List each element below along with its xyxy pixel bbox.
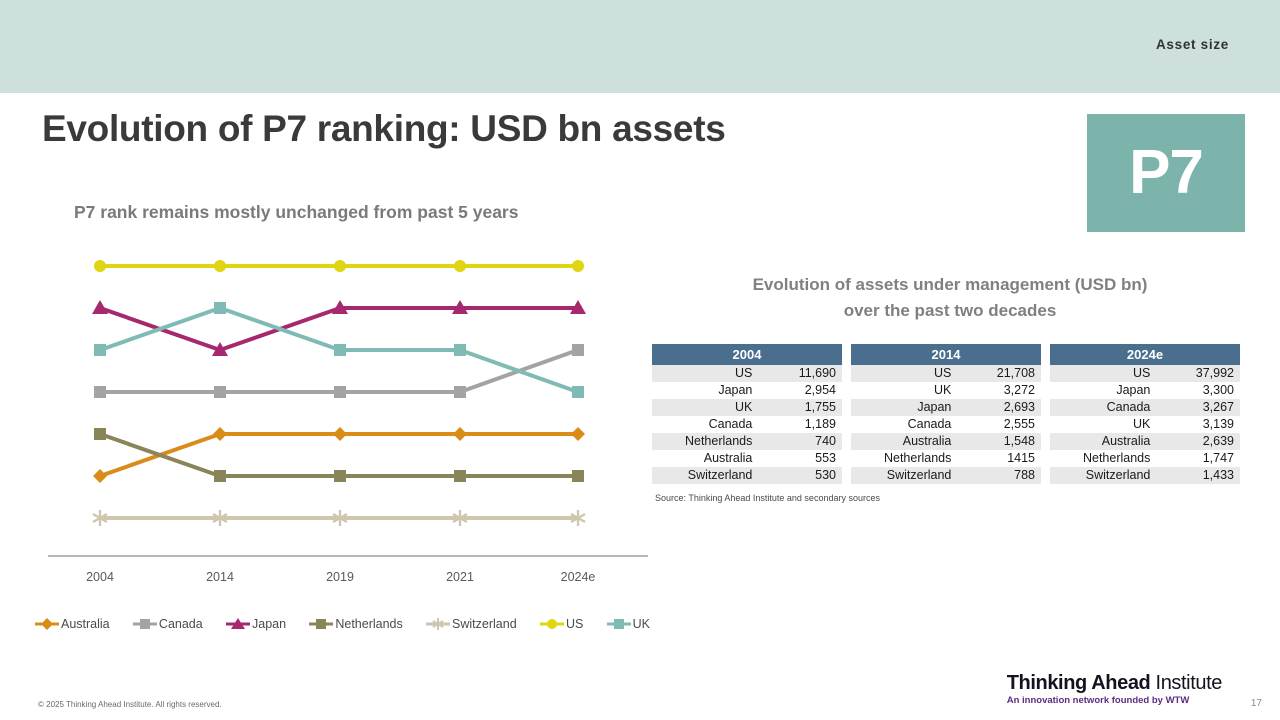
- legend-marker-australia: [34, 616, 60, 632]
- table-cell-country: Japan: [652, 382, 758, 399]
- legend-item-switzerland[interactable]: Switzerland: [425, 616, 517, 632]
- table-row: Canada2,555: [851, 416, 1041, 433]
- table-cell-country: UK: [1050, 416, 1156, 433]
- table-cell-value: 530: [758, 467, 842, 484]
- table-cell-value: 740: [758, 433, 842, 450]
- table-row: Netherlands1415: [851, 450, 1041, 467]
- table-row: UK3,272: [851, 382, 1041, 399]
- legend-marker-netherlands: [308, 616, 334, 632]
- table-cell-value: 2,639: [1156, 433, 1240, 450]
- tables-title: Evolution of assets under management (US…: [650, 272, 1250, 323]
- legend-marker-canada: [132, 616, 158, 632]
- table-row: Japan3,300: [1050, 382, 1240, 399]
- table-row: Netherlands1,747: [1050, 450, 1240, 467]
- source-note: Source: Thinking Ahead Institute and sec…: [655, 493, 880, 503]
- table-cell-country: Switzerland: [1050, 467, 1156, 484]
- table-row: Canada1,189: [652, 416, 842, 433]
- institute-logo: Thinking Ahead Institute An innovation n…: [1007, 672, 1222, 706]
- table-cell-country: Netherlands: [652, 433, 758, 450]
- chart-subtitle: P7 rank remains mostly unchanged from pa…: [74, 202, 518, 223]
- series-uk: [94, 302, 584, 398]
- table-row: US37,992: [1050, 365, 1240, 382]
- table-year-header: 2004: [652, 344, 842, 365]
- table-header-row: 2004: [652, 344, 842, 365]
- table-cell-country: Netherlands: [851, 450, 957, 467]
- table-cell-value: 2,954: [758, 382, 842, 399]
- table-cell-value: 1,433: [1156, 467, 1240, 484]
- rank-line-chart-svg: [40, 248, 660, 578]
- chart-legend: AustraliaCanadaJapanNetherlandsSwitzerla…: [34, 612, 650, 636]
- tables-title-line1: Evolution of assets under management (US…: [650, 272, 1250, 298]
- table-cell-country: Switzerland: [851, 467, 957, 484]
- asset-table-2014: 2014US21,708UK3,272Japan2,693Canada2,555…: [851, 344, 1041, 484]
- table-cell-value: 2,555: [957, 416, 1041, 433]
- table-cell-value: 553: [758, 450, 842, 467]
- p7-badge: P7: [1087, 114, 1245, 232]
- table-cell-country: US: [851, 365, 957, 382]
- x-axis-tick-2021: 2021: [446, 570, 474, 584]
- table-cell-country: Canada: [851, 416, 957, 433]
- table-cell-value: 11,690: [758, 365, 842, 382]
- p7-badge-label: P7: [1129, 142, 1203, 204]
- legend-item-japan[interactable]: Japan: [225, 616, 286, 632]
- page-number: 17: [1251, 698, 1262, 709]
- table-row: Netherlands740: [652, 433, 842, 450]
- copyright-text: © 2025 Thinking Ahead Institute. All rig…: [38, 700, 222, 709]
- table-header-row: 2024e: [1050, 344, 1240, 365]
- logo-bold-text: Thinking Ahead: [1007, 672, 1151, 694]
- table-cell-country: Australia: [1050, 433, 1156, 450]
- table-cell-value: 3,267: [1156, 399, 1240, 416]
- table-cell-country: UK: [851, 382, 957, 399]
- legend-label-switzerland: Switzerland: [452, 617, 517, 631]
- legend-item-us[interactable]: US: [539, 616, 583, 632]
- legend-label-japan: Japan: [252, 617, 286, 631]
- asset-tables: 2004US11,690Japan2,954UK1,755Canada1,189…: [652, 344, 1242, 484]
- table-row: Australia553: [652, 450, 842, 467]
- table-row: UK3,139: [1050, 416, 1240, 433]
- legend-item-australia[interactable]: Australia: [34, 616, 110, 632]
- table-cell-country: Canada: [652, 416, 758, 433]
- table-cell-country: Japan: [851, 399, 957, 416]
- logo-wordmark: Thinking Ahead Institute: [1007, 672, 1222, 694]
- table-row: Switzerland1,433: [1050, 467, 1240, 484]
- legend-marker-switzerland: [425, 616, 451, 632]
- table-cell-value: 1415: [957, 450, 1041, 467]
- top-banner: Asset size: [0, 0, 1280, 93]
- legend-item-netherlands[interactable]: Netherlands: [308, 616, 402, 632]
- legend-marker-japan: [225, 616, 251, 632]
- table-cell-country: US: [652, 365, 758, 382]
- x-axis-labels: 20042014201920212024e: [40, 570, 660, 594]
- table-cell-value: 21,708: [957, 365, 1041, 382]
- table-cell-value: 3,139: [1156, 416, 1240, 433]
- table-row: Canada3,267: [1050, 399, 1240, 416]
- table-year-header: 2024e: [1050, 344, 1240, 365]
- logo-light-text: Institute: [1150, 672, 1222, 694]
- legend-item-uk[interactable]: UK: [606, 616, 650, 632]
- legend-label-australia: Australia: [61, 617, 110, 631]
- table-cell-country: Netherlands: [1050, 450, 1156, 467]
- page-title: Evolution of P7 ranking: USD bn assets: [42, 108, 726, 150]
- table-cell-value: 2,693: [957, 399, 1041, 416]
- table-row: US11,690: [652, 365, 842, 382]
- legend-item-canada[interactable]: Canada: [132, 616, 203, 632]
- logo-tagline: An innovation network founded by WTW: [1007, 695, 1222, 706]
- table-row: UK1,755: [652, 399, 842, 416]
- table-cell-country: Australia: [851, 433, 957, 450]
- table-year-header: 2014: [851, 344, 1041, 365]
- legend-label-netherlands: Netherlands: [335, 617, 402, 631]
- legend-marker-uk: [606, 616, 632, 632]
- table-row: Australia1,548: [851, 433, 1041, 450]
- x-axis-tick-2024e: 2024e: [561, 570, 596, 584]
- table-row: Australia2,639: [1050, 433, 1240, 450]
- table-cell-value: 3,272: [957, 382, 1041, 399]
- x-axis-tick-2014: 2014: [206, 570, 234, 584]
- legend-label-canada: Canada: [159, 617, 203, 631]
- legend-label-us: US: [566, 617, 583, 631]
- table-cell-country: Japan: [1050, 382, 1156, 399]
- series-switzerland: [93, 510, 585, 526]
- table-cell-country: Switzerland: [652, 467, 758, 484]
- table-cell-value: 37,992: [1156, 365, 1240, 382]
- table-cell-value: 788: [957, 467, 1041, 484]
- series-us: [94, 260, 584, 272]
- asset-table-2024e: 2024eUS37,992Japan3,300Canada3,267UK3,13…: [1050, 344, 1240, 484]
- table-row: Switzerland530: [652, 467, 842, 484]
- table-cell-value: 1,189: [758, 416, 842, 433]
- table-cell-value: 1,548: [957, 433, 1041, 450]
- x-axis-tick-2019: 2019: [326, 570, 354, 584]
- table-cell-value: 3,300: [1156, 382, 1240, 399]
- banner-section-tag: Asset size: [1156, 37, 1229, 52]
- x-axis-tick-2004: 2004: [86, 570, 114, 584]
- table-row: Switzerland788: [851, 467, 1041, 484]
- table-row: US21,708: [851, 365, 1041, 382]
- asset-table-2004: 2004US11,690Japan2,954UK1,755Canada1,189…: [652, 344, 842, 484]
- table-cell-country: US: [1050, 365, 1156, 382]
- table-cell-value: 1,747: [1156, 450, 1240, 467]
- legend-label-uk: UK: [633, 617, 650, 631]
- table-cell-country: Canada: [1050, 399, 1156, 416]
- table-header-row: 2014: [851, 344, 1041, 365]
- table-cell-value: 1,755: [758, 399, 842, 416]
- table-row: Japan2,954: [652, 382, 842, 399]
- tables-title-line2: over the past two decades: [650, 298, 1250, 324]
- table-cell-country: UK: [652, 399, 758, 416]
- rank-line-chart: [40, 248, 660, 578]
- legend-marker-us: [539, 616, 565, 632]
- table-cell-country: Australia: [652, 450, 758, 467]
- table-row: Japan2,693: [851, 399, 1041, 416]
